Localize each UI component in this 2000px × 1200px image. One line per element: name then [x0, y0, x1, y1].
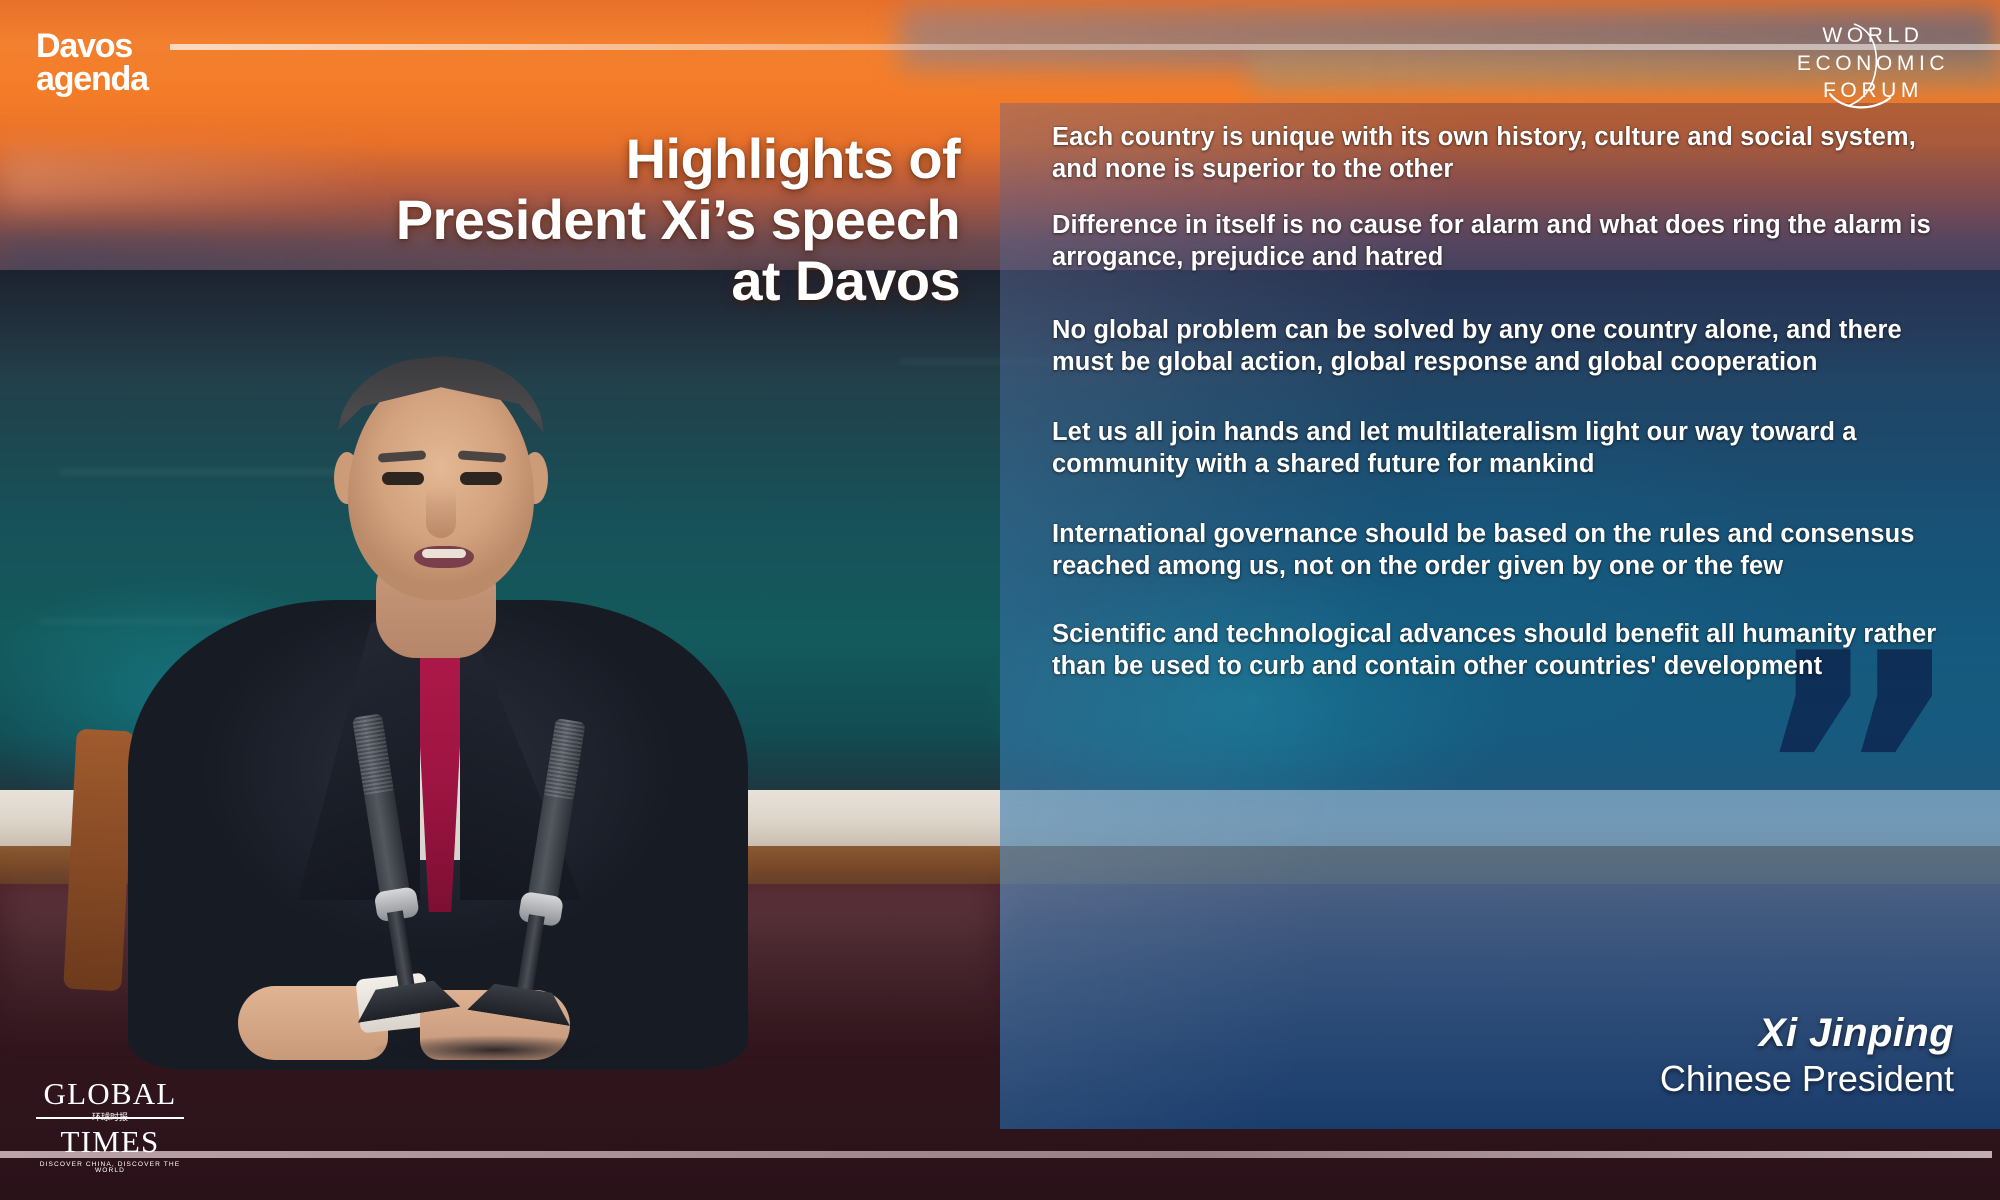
eye-left: [382, 472, 424, 485]
speaker-role: Chinese President: [1660, 1057, 1954, 1101]
davos-agenda-logo: Davos agenda: [36, 30, 148, 95]
wef-swoosh-icon: [1768, 22, 1978, 114]
global-times-word-global: GLOBAL: [36, 1078, 184, 1109]
subject-figure: [120, 300, 760, 1060]
teeth: [422, 549, 466, 558]
nose: [426, 486, 456, 538]
quote-item: Let us all join hands and let multilater…: [1052, 416, 1958, 480]
quote-item: International governance should be based…: [1052, 518, 1958, 582]
global-times-logo: GLOBAL 环球时报 TIMES DISCOVER CHINA, DISCOV…: [36, 1078, 184, 1175]
page-title: Highlights of President Xi’s speech at D…: [260, 128, 960, 311]
quotation-mark-icon: ”: [1749, 674, 1960, 879]
top-divider-line: [170, 44, 2000, 50]
quote-item: Each country is unique with its own hist…: [1052, 121, 1958, 185]
global-times-tagline: DISCOVER CHINA, DISCOVER THE WORLD: [36, 1162, 184, 1175]
page-title-line-3: at Davos: [260, 250, 960, 311]
infographic-canvas: Highlights of President Xi’s speech at D…: [0, 0, 2000, 1200]
bottom-divider-line: [0, 1151, 1992, 1158]
mic-base-shadow: [330, 1030, 660, 1070]
speaker-name: Xi Jinping: [1660, 1011, 1954, 1055]
attribution: Xi Jinping Chinese President: [1660, 1011, 1954, 1101]
quote-list: Each country is unique with its own hist…: [1052, 121, 1958, 683]
eye-right: [460, 472, 502, 485]
global-times-word-times: TIMES: [36, 1126, 184, 1159]
quote-item: No global problem can be solved by any o…: [1052, 314, 1958, 378]
davos-logo-line-1: Davos: [36, 30, 148, 63]
global-times-chinese-name: 环球时报: [88, 1114, 132, 1123]
global-times-rule: 环球时报: [36, 1111, 184, 1125]
page-title-line-1: Highlights of: [260, 128, 960, 189]
world-economic-forum-logo: WORLD ECONOMIC FORUM: [1768, 22, 1978, 114]
quote-item: Difference in itself is no cause for ala…: [1052, 209, 1958, 273]
davos-logo-line-2: agenda: [36, 63, 148, 96]
quote-panel: ” Each country is unique with its own hi…: [1000, 103, 2000, 1129]
page-title-line-2: President Xi’s speech: [260, 189, 960, 250]
quote-item: Scientific and technological advances sh…: [1052, 618, 1958, 682]
chair-back: [63, 729, 135, 992]
